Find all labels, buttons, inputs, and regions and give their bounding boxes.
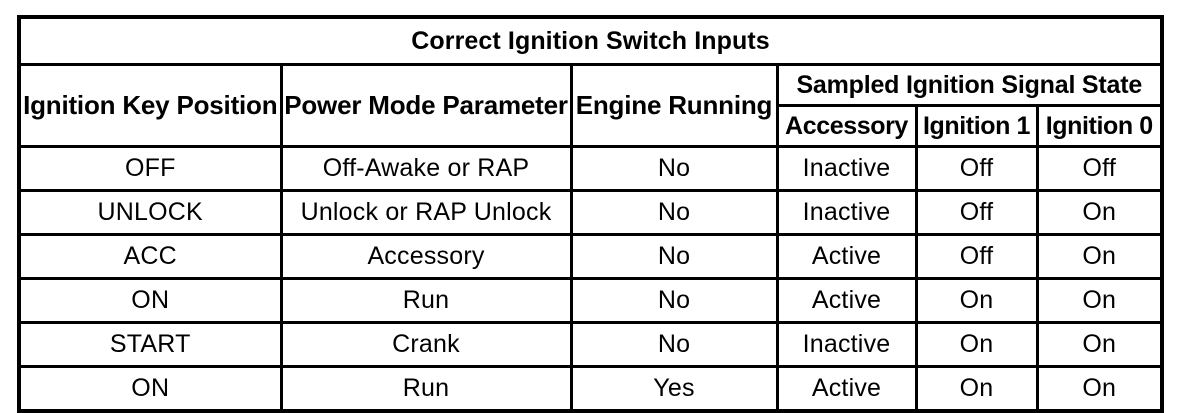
- table-row: OFF Off-Awake or RAP No Inactive Off Off: [19, 147, 1162, 191]
- cell-ignition-1: On: [916, 323, 1037, 367]
- table-row: UNLOCK Unlock or RAP Unlock No Inactive …: [19, 191, 1162, 235]
- cell-ignition-0: On: [1037, 191, 1162, 235]
- screenshot-canvas: Correct Ignition Switch Inputs Ignition …: [0, 0, 1200, 408]
- cell-ignition-0: On: [1037, 323, 1162, 367]
- cell-accessory: Active: [777, 367, 916, 412]
- column-header-accessory: Accessory: [777, 106, 916, 147]
- cell-ignition-1: Off: [916, 147, 1037, 191]
- table-title: Correct Ignition Switch Inputs: [19, 17, 1162, 65]
- cell-power-mode: Unlock or RAP Unlock: [281, 191, 571, 235]
- cell-power-mode: Off-Awake or RAP: [281, 147, 571, 191]
- column-header-ignition-0: Ignition 0: [1037, 106, 1162, 147]
- cell-ignition-0: On: [1037, 235, 1162, 279]
- cell-ignition-1: On: [916, 279, 1037, 323]
- cell-key-position: ON: [19, 279, 281, 323]
- cell-ignition-0: On: [1037, 367, 1162, 412]
- cell-accessory: Inactive: [777, 191, 916, 235]
- cell-accessory: Active: [777, 235, 916, 279]
- table-header-row-primary: Ignition Key Position Power Mode Paramet…: [19, 65, 1162, 106]
- cell-key-position: ON: [19, 367, 281, 412]
- cell-ignition-1: Off: [916, 191, 1037, 235]
- cell-engine-running: Yes: [571, 367, 777, 412]
- cell-ignition-1: Off: [916, 235, 1037, 279]
- table-title-row: Correct Ignition Switch Inputs: [19, 17, 1162, 65]
- cell-engine-running: No: [571, 191, 777, 235]
- table-row: ON Run No Active On On: [19, 279, 1162, 323]
- cell-power-mode: Run: [281, 279, 571, 323]
- cell-accessory: Active: [777, 279, 916, 323]
- table-row: ON Run Yes Active On On: [19, 367, 1162, 412]
- column-header-power-mode-parameter: Power Mode Parameter: [281, 65, 571, 147]
- table-row: START Crank No Inactive On On: [19, 323, 1162, 367]
- cell-power-mode: Run: [281, 367, 571, 412]
- cell-accessory: Inactive: [777, 323, 916, 367]
- cell-key-position: ACC: [19, 235, 281, 279]
- cell-ignition-1: On: [916, 367, 1037, 412]
- cell-ignition-0: Off: [1037, 147, 1162, 191]
- cell-engine-running: No: [571, 235, 777, 279]
- table-header: Correct Ignition Switch Inputs Ignition …: [19, 17, 1162, 147]
- cell-accessory: Inactive: [777, 147, 916, 191]
- table-row: ACC Accessory No Active Off On: [19, 235, 1162, 279]
- cell-key-position: UNLOCK: [19, 191, 281, 235]
- column-header-ignition-key-position: Ignition Key Position: [19, 65, 281, 147]
- cell-engine-running: No: [571, 323, 777, 367]
- cell-power-mode: Crank: [281, 323, 571, 367]
- column-header-ignition-1: Ignition 1: [916, 106, 1037, 147]
- cell-ignition-0: On: [1037, 279, 1162, 323]
- cell-key-position: OFF: [19, 147, 281, 191]
- cell-power-mode: Accessory: [281, 235, 571, 279]
- cell-engine-running: No: [571, 279, 777, 323]
- column-header-engine-running: Engine Running: [571, 65, 777, 147]
- cell-key-position: START: [19, 323, 281, 367]
- cell-engine-running: No: [571, 147, 777, 191]
- ignition-switch-inputs-table: Correct Ignition Switch Inputs Ignition …: [17, 15, 1164, 413]
- table-body: OFF Off-Awake or RAP No Inactive Off Off…: [19, 147, 1162, 412]
- column-group-header-sampled-ignition-signal-state: Sampled Ignition Signal State: [777, 65, 1162, 106]
